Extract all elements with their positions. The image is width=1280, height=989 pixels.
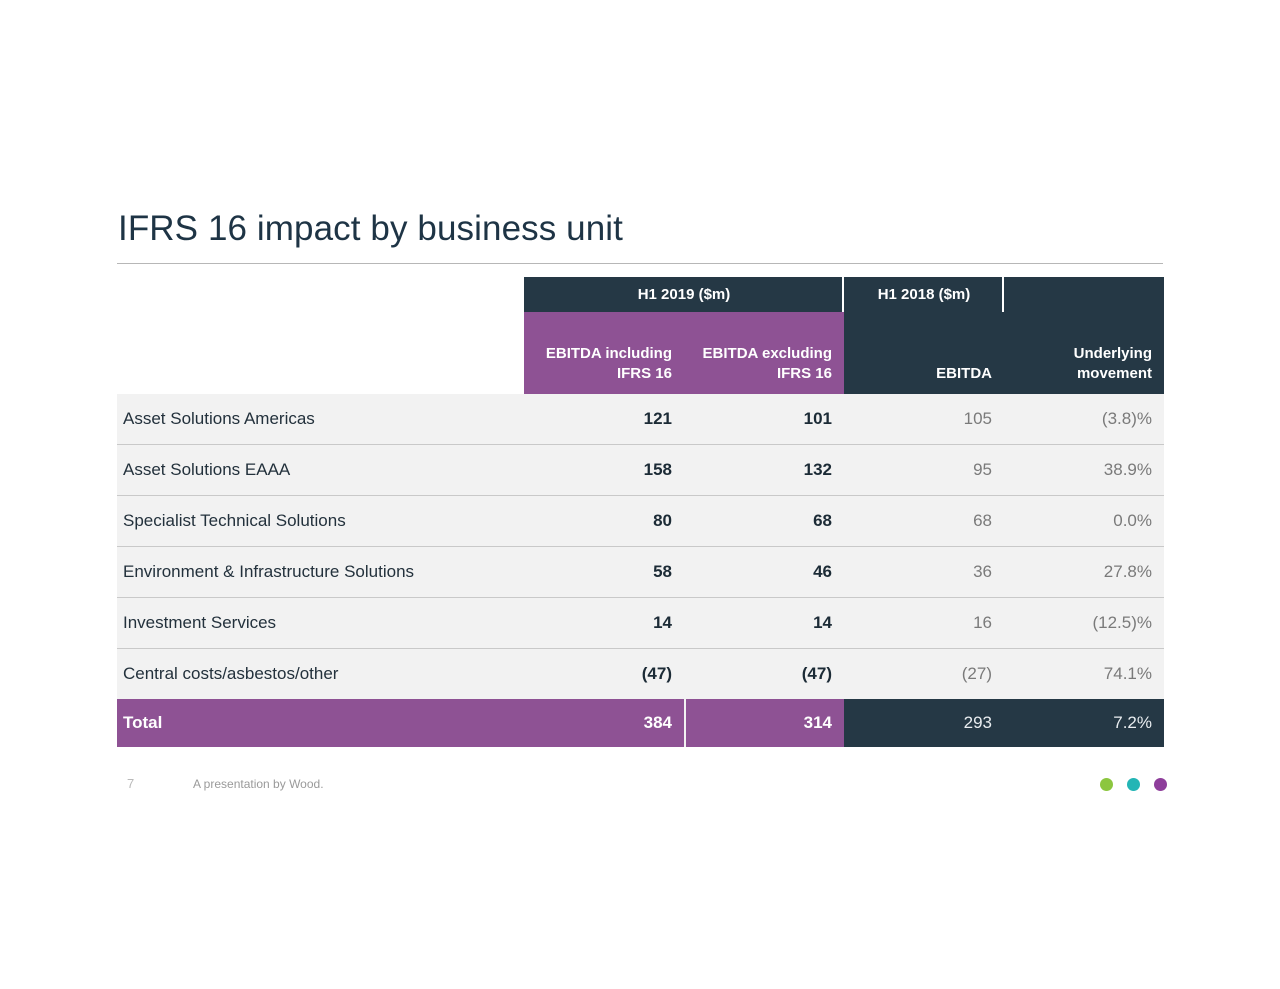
purple-dot-icon bbox=[1154, 778, 1167, 791]
table-row: Investment Services 14 14 16 (12.5)% bbox=[117, 598, 1164, 649]
total-ebitda-excluding-ifrs16: 314 bbox=[684, 699, 844, 747]
table-body: Asset Solutions Americas 121 101 105 (3.… bbox=[117, 394, 1164, 747]
row-label: Specialist Technical Solutions bbox=[117, 496, 524, 547]
row-label: Central costs/asbestos/other bbox=[117, 649, 524, 700]
ifrs16-impact-table: H1 2019 ($m) H1 2018 ($m) EBITDA includi… bbox=[117, 277, 1164, 747]
cell-underlying-movement: 38.9% bbox=[1004, 445, 1164, 496]
column-header-underlying-movement: Underlying movement bbox=[1004, 312, 1164, 394]
cell-ebitda-2018: (27) bbox=[844, 649, 1004, 700]
row-label: Asset Solutions EAAA bbox=[117, 445, 524, 496]
footer-page-number: 7 bbox=[127, 776, 134, 791]
cell-ebitda-including-ifrs16: (47) bbox=[524, 649, 684, 700]
cell-ebitda-excluding-ifrs16: 46 bbox=[684, 547, 844, 598]
cell-ebitda-including-ifrs16: 158 bbox=[524, 445, 684, 496]
footer-dots bbox=[1100, 778, 1167, 791]
cell-underlying-movement: 27.8% bbox=[1004, 547, 1164, 598]
cell-ebitda-2018: 36 bbox=[844, 547, 1004, 598]
cell-ebitda-including-ifrs16: 14 bbox=[524, 598, 684, 649]
footer-note: A presentation by Wood. bbox=[193, 777, 324, 791]
teal-dot-icon bbox=[1127, 778, 1140, 791]
table-row: Asset Solutions Americas 121 101 105 (3.… bbox=[117, 394, 1164, 445]
title-divider bbox=[117, 263, 1163, 264]
table-total-row: Total 384 314 293 7.2% bbox=[117, 699, 1164, 747]
cell-ebitda-including-ifrs16: 121 bbox=[524, 394, 684, 445]
page-title: IFRS 16 impact by business unit bbox=[118, 209, 623, 249]
cell-underlying-movement: 74.1% bbox=[1004, 649, 1164, 700]
cell-ebitda-2018: 16 bbox=[844, 598, 1004, 649]
column-header-ebitda-2018: EBITDA bbox=[844, 312, 1004, 394]
table-row: Asset Solutions EAAA 158 132 95 38.9% bbox=[117, 445, 1164, 496]
cell-ebitda-including-ifrs16: 58 bbox=[524, 547, 684, 598]
group-header-blank bbox=[117, 277, 524, 312]
table-head: H1 2019 ($m) H1 2018 ($m) EBITDA includi… bbox=[117, 277, 1164, 394]
cell-ebitda-excluding-ifrs16: 68 bbox=[684, 496, 844, 547]
row-label: Asset Solutions Americas bbox=[117, 394, 524, 445]
group-header-h1-2019: H1 2019 ($m) bbox=[524, 277, 844, 312]
group-header-h1-2018: H1 2018 ($m) bbox=[844, 277, 1004, 312]
row-label: Investment Services bbox=[117, 598, 524, 649]
cell-ebitda-excluding-ifrs16: 14 bbox=[684, 598, 844, 649]
column-header-blank bbox=[117, 312, 524, 394]
group-header-empty bbox=[1004, 277, 1164, 312]
total-label: Total bbox=[117, 699, 524, 747]
slide-canvas: IFRS 16 impact by business unit H1 2019 … bbox=[0, 0, 1280, 989]
total-underlying-movement: 7.2% bbox=[1004, 699, 1164, 747]
column-header-row: EBITDA including IFRS 16 EBITDA excludin… bbox=[117, 312, 1164, 394]
cell-underlying-movement: (12.5)% bbox=[1004, 598, 1164, 649]
cell-ebitda-excluding-ifrs16: (47) bbox=[684, 649, 844, 700]
cell-ebitda-2018: 105 bbox=[844, 394, 1004, 445]
data-table-container: H1 2019 ($m) H1 2018 ($m) EBITDA includi… bbox=[117, 277, 1164, 747]
total-ebitda-including-ifrs16: 384 bbox=[524, 699, 684, 747]
cell-ebitda-excluding-ifrs16: 101 bbox=[684, 394, 844, 445]
column-header-ebitda-excluding-ifrs16: EBITDA excluding IFRS 16 bbox=[684, 312, 844, 394]
table-row: Central costs/asbestos/other (47) (47) (… bbox=[117, 649, 1164, 700]
total-ebitda-2018: 293 bbox=[844, 699, 1004, 747]
cell-ebitda-excluding-ifrs16: 132 bbox=[684, 445, 844, 496]
cell-ebitda-2018: 68 bbox=[844, 496, 1004, 547]
column-header-ebitda-including-ifrs16: EBITDA including IFRS 16 bbox=[524, 312, 684, 394]
cell-underlying-movement: (3.8)% bbox=[1004, 394, 1164, 445]
cell-underlying-movement: 0.0% bbox=[1004, 496, 1164, 547]
row-label: Environment & Infrastructure Solutions bbox=[117, 547, 524, 598]
cell-ebitda-2018: 95 bbox=[844, 445, 1004, 496]
table-row: Specialist Technical Solutions 80 68 68 … bbox=[117, 496, 1164, 547]
cell-ebitda-including-ifrs16: 80 bbox=[524, 496, 684, 547]
green-dot-icon bbox=[1100, 778, 1113, 791]
table-row: Environment & Infrastructure Solutions 5… bbox=[117, 547, 1164, 598]
group-header-row: H1 2019 ($m) H1 2018 ($m) bbox=[117, 277, 1164, 312]
